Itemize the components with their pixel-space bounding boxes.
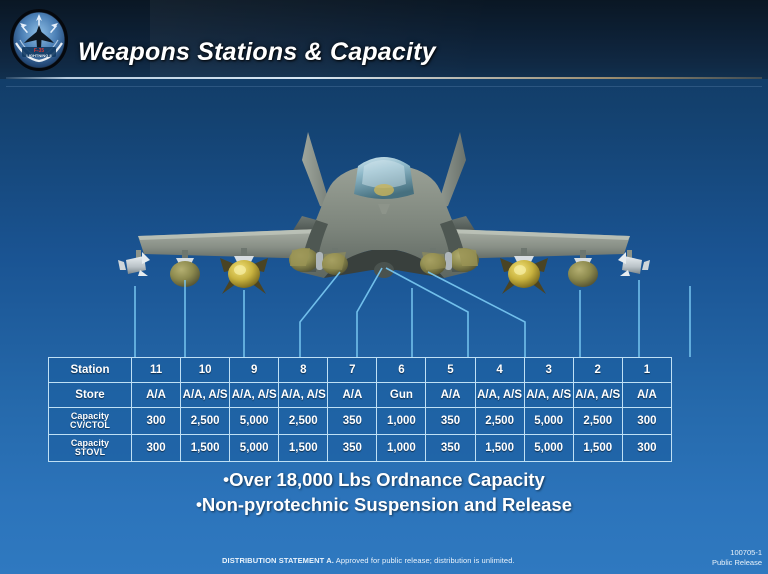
- svg-text:LIGHTNING II: LIGHTNING II: [26, 53, 51, 58]
- capacity-stovl-cell: 300: [132, 435, 181, 462]
- store-cell: A/A: [328, 383, 377, 408]
- capacity-stovl-cell: 1,500: [573, 435, 622, 462]
- store-cell: A/A, A/S: [524, 383, 573, 408]
- table-row-capacity-cv-ctol: Capacity CV/CTOL 300 2,500 5,000 2,500 3…: [49, 408, 672, 435]
- release-label: Public Release: [712, 558, 762, 568]
- station-cell: 7: [328, 358, 377, 383]
- station-cell: 9: [230, 358, 279, 383]
- capacity-cv-ctol-cell: 350: [426, 408, 475, 435]
- capacity-stovl-cell: 1,500: [475, 435, 524, 462]
- station-cell: 5: [426, 358, 475, 383]
- table-row-capacity-stovl: Capacity STOVL 300 1,500 5,000 1,500 350…: [49, 435, 672, 462]
- distribution-statement-label: DISTRIBUTION STATEMENT A.: [222, 556, 334, 565]
- distribution-statement: DISTRIBUTION STATEMENT A. Approved for p…: [222, 556, 515, 565]
- station-cell: 4: [475, 358, 524, 383]
- capacity-cv-ctol-cell: 350: [328, 408, 377, 435]
- capacity-cv-ctol-cell: 2,500: [475, 408, 524, 435]
- bullet-item: •Non-pyrotechnic Suspension and Release: [0, 492, 768, 517]
- document-number: 100705-1: [712, 548, 762, 558]
- capacity-stovl-cell: 300: [622, 435, 671, 462]
- row-label-station: Station: [49, 358, 132, 383]
- station-cell: 11: [132, 358, 181, 383]
- row-label-capacity-stovl: Capacity STOVL: [49, 435, 132, 462]
- row-label-line2: STOVL: [49, 448, 131, 457]
- capacity-stovl-cell: 350: [328, 435, 377, 462]
- capacity-cv-ctol-cell: 300: [622, 408, 671, 435]
- store-cell: A/A, A/S: [230, 383, 279, 408]
- header-divider-secondary: [6, 86, 762, 87]
- header-divider: [6, 77, 762, 79]
- store-cell: A/A, A/S: [279, 383, 328, 408]
- station-cell: 8: [279, 358, 328, 383]
- distribution-statement-text: Approved for public release; distributio…: [336, 556, 515, 565]
- capacity-cv-ctol-cell: 2,500: [279, 408, 328, 435]
- table-row-station: Station 11 10 9 8 7 6 5 4 3 2 1: [49, 358, 672, 383]
- capacity-stovl-cell: 5,000: [524, 435, 573, 462]
- capacity-cv-ctol-cell: 1,000: [377, 408, 426, 435]
- station-cell: 6: [377, 358, 426, 383]
- store-cell: A/A: [622, 383, 671, 408]
- capacity-cv-ctol-cell: 5,000: [524, 408, 573, 435]
- capacity-cv-ctol-cell: 300: [132, 408, 181, 435]
- weapons-stations-table: Station 11 10 9 8 7 6 5 4 3 2 1 Store A/…: [48, 357, 672, 462]
- capacity-stovl-cell: 5,000: [230, 435, 279, 462]
- table-row-store: Store A/A A/A, A/S A/A, A/S A/A, A/S A/A…: [49, 383, 672, 408]
- store-cell: A/A: [426, 383, 475, 408]
- document-id-block: 100705-1 Public Release: [712, 548, 762, 568]
- bullet-text: Over 18,000 Lbs Ordnance Capacity: [229, 469, 545, 490]
- bullet-item: •Over 18,000 Lbs Ordnance Capacity: [0, 467, 768, 492]
- capacity-stovl-cell: 350: [426, 435, 475, 462]
- capacity-cv-ctol-cell: 2,500: [181, 408, 230, 435]
- station-cell: 3: [524, 358, 573, 383]
- slide-header: F-35 LIGHTNING II Weapons Stations & Cap…: [0, 0, 768, 79]
- capacity-stovl-cell: 1,000: [377, 435, 426, 462]
- summary-bullets: •Over 18,000 Lbs Ordnance Capacity •Non-…: [0, 467, 768, 517]
- page-title: Weapons Stations & Capacity: [78, 38, 436, 67]
- row-label-line2: CV/CTOL: [49, 421, 131, 430]
- store-cell: A/A: [132, 383, 181, 408]
- row-label-store: Store: [49, 383, 132, 408]
- bullet-text: Non-pyrotechnic Suspension and Release: [202, 494, 572, 515]
- station-leader-lines: [0, 250, 768, 362]
- station-cell: 1: [622, 358, 671, 383]
- slide: F-35 LIGHTNING II Weapons Stations & Cap…: [0, 0, 768, 574]
- capacity-stovl-cell: 1,500: [181, 435, 230, 462]
- store-cell: A/A, A/S: [181, 383, 230, 408]
- store-cell: A/A, A/S: [573, 383, 622, 408]
- capacity-cv-ctol-cell: 5,000: [230, 408, 279, 435]
- f35-lightning-ii-emblem-icon: F-35 LIGHTNING II: [8, 7, 70, 73]
- store-cell: A/A, A/S: [475, 383, 524, 408]
- station-cell: 2: [573, 358, 622, 383]
- capacity-stovl-cell: 1,500: [279, 435, 328, 462]
- row-label-capacity-cv-ctol: Capacity CV/CTOL: [49, 408, 132, 435]
- station-cell: 10: [181, 358, 230, 383]
- store-cell: Gun: [377, 383, 426, 408]
- capacity-cv-ctol-cell: 2,500: [573, 408, 622, 435]
